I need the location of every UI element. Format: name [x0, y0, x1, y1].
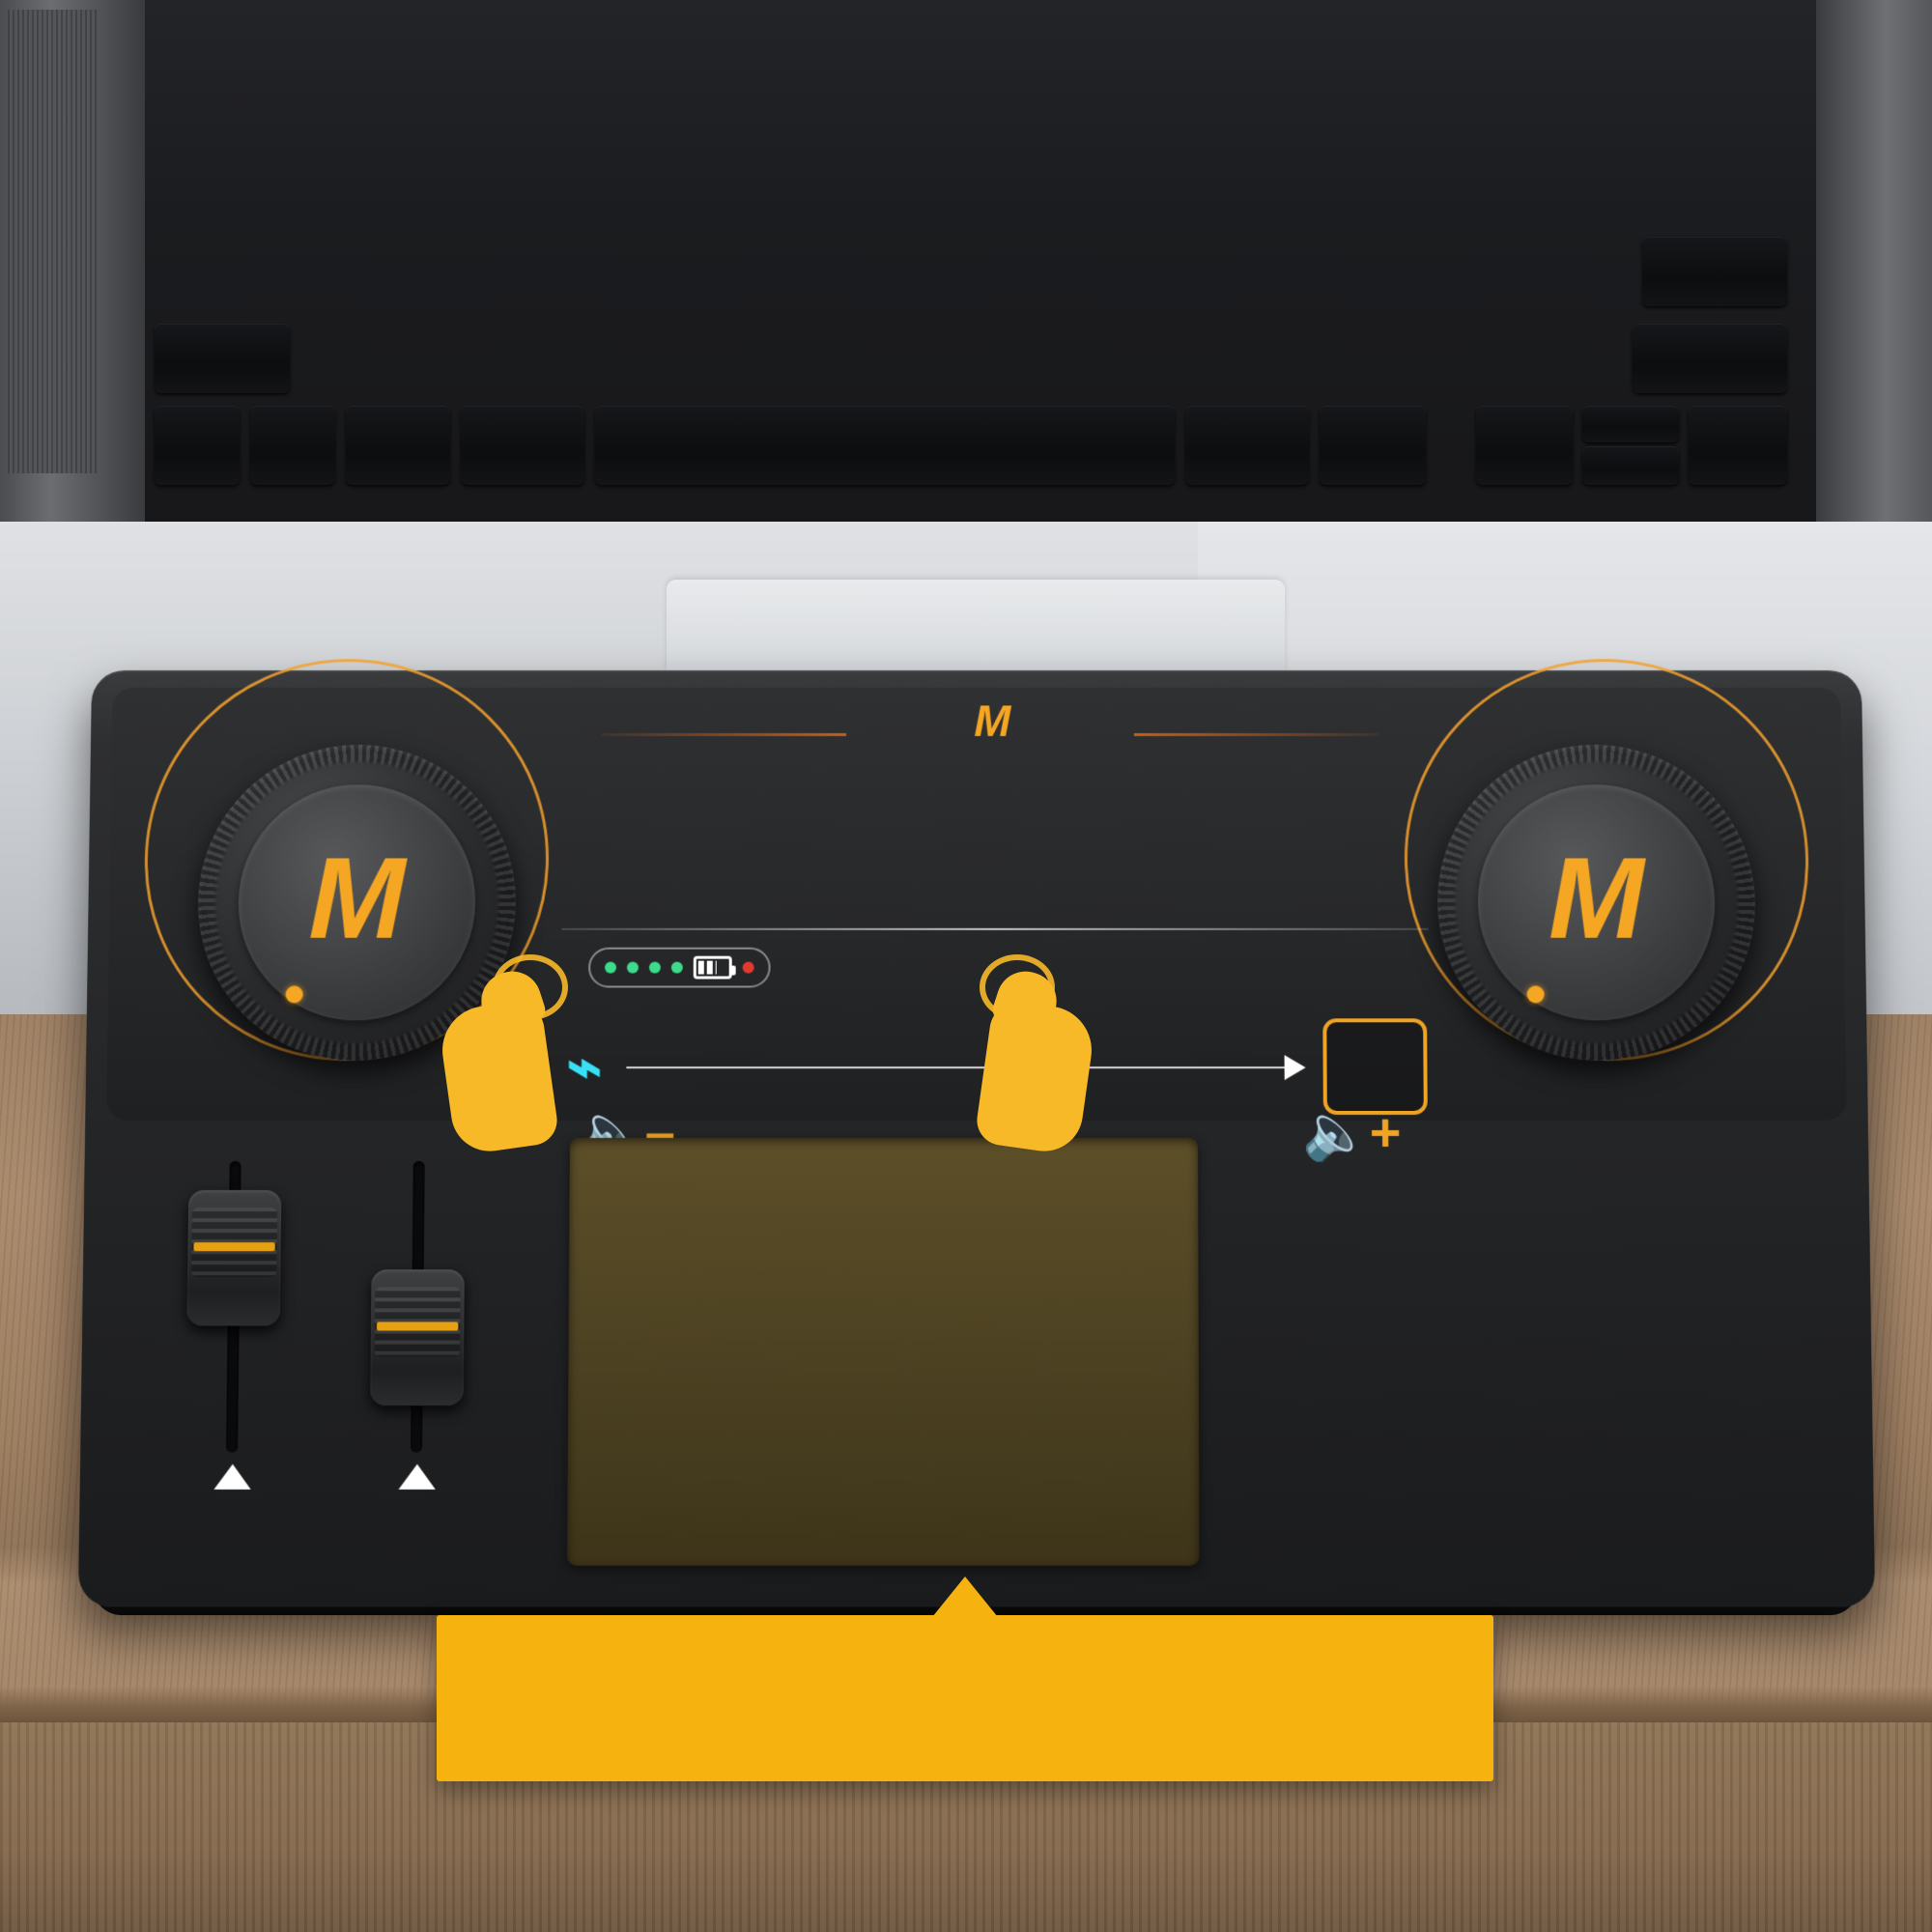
monitor-fader-indicator: [377, 1321, 458, 1330]
record-status-dot: [743, 962, 754, 974]
status-dot-1: [605, 962, 616, 974]
mic-knob-position-dot: [286, 985, 303, 1003]
key-arrow-right[interactable]: [1689, 406, 1787, 485]
jingle-pads-callout: [437, 1615, 1493, 1781]
mic-knob-cap: M: [237, 784, 476, 1020]
monitor-fader[interactable]: [345, 1161, 493, 1453]
sound-pad-deck[interactable]: [567, 1138, 1200, 1566]
maono-m-logo-icon: M: [308, 841, 406, 956]
key-fn[interactable]: [155, 406, 240, 485]
eq-knob-row[interactable]: [590, 722, 1389, 923]
music-knob-position-dot: [1527, 985, 1545, 1003]
status-dot-4: [671, 962, 683, 974]
laptop-right-frame: [1816, 0, 1932, 541]
maono-m-logo-icon-2: M: [1548, 841, 1645, 956]
divider-above-meters: [561, 928, 1428, 930]
laptop-speaker-grille: [8, 10, 99, 473]
battery-icon: [694, 956, 732, 980]
monitor-fader-handle[interactable]: [370, 1269, 465, 1406]
key-option-left[interactable]: [346, 406, 450, 485]
echo-triangle-up-icon: [213, 1464, 251, 1490]
key-option-right[interactable]: [1320, 406, 1426, 485]
callout-arrow-icon: [932, 1577, 998, 1617]
maono-audio-mixer[interactable]: M M M: [78, 670, 1875, 1606]
key-arrow-up[interactable]: [1582, 406, 1679, 442]
laptop-left-frame: [0, 0, 145, 541]
hand-palm-left: [437, 998, 560, 1156]
key-arrow-down[interactable]: [1582, 446, 1679, 485]
pointing-hand-left-icon: [446, 966, 562, 1150]
battery-fill: [698, 961, 717, 975]
function-button-panel[interactable]: [1370, 1146, 1791, 1564]
music-volume-knob[interactable]: M: [1436, 745, 1757, 1061]
key-enter[interactable]: [1642, 237, 1787, 306]
key-spacebar[interactable]: [595, 406, 1175, 485]
key-ctrl[interactable]: [250, 406, 335, 485]
echo-fader-indicator: [193, 1242, 274, 1251]
key-shift-left[interactable]: [155, 324, 290, 393]
status-indicator-pill: [588, 948, 771, 988]
mixer-lower-deck: [99, 1132, 1853, 1589]
key-cmd-right[interactable]: [1185, 406, 1309, 485]
music-knob-cap: M: [1477, 784, 1717, 1020]
laptop-keyboard: [0, 0, 1932, 541]
echo-fader[interactable]: [160, 1161, 309, 1453]
mixer-top-panel: M M M: [106, 688, 1847, 1121]
status-dot-3: [649, 962, 661, 974]
key-arrow-left[interactable]: [1476, 406, 1573, 485]
keyboard-modifier-left[interactable]: [155, 406, 1426, 485]
status-dot-2: [627, 962, 639, 974]
monitor-triangle-up-icon: [399, 1464, 436, 1490]
echo-fader-handle[interactable]: [186, 1190, 281, 1325]
pointing-hand-right-icon: [983, 966, 1099, 1150]
fader-section[interactable]: [158, 1151, 541, 1560]
bluetooth-icon[interactable]: ⌁: [566, 1037, 603, 1097]
pitch-scale-axis: [626, 1066, 1292, 1068]
laptop-stand-lip: [667, 580, 1285, 671]
key-cmd-left[interactable]: [461, 406, 584, 485]
key-shift-right[interactable]: [1633, 324, 1787, 393]
hand-palm-right: [974, 998, 1097, 1156]
arrow-right-icon: [1285, 1055, 1306, 1080]
